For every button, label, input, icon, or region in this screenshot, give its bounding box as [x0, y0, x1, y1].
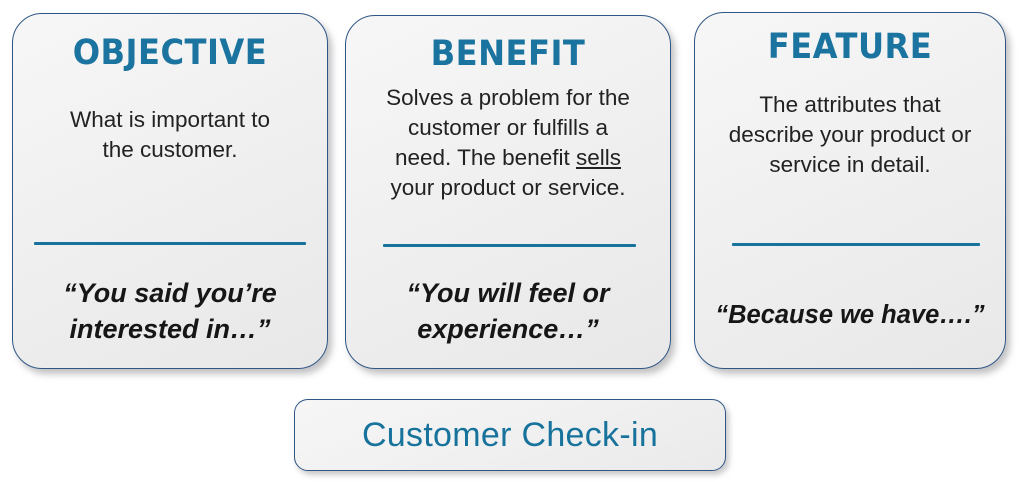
card-benefit-description-line-4: your product or service. [364, 173, 652, 203]
card-objective-quote-line-2: interested in…” [39, 312, 301, 348]
card-objective-description: What is important to the customer. [13, 105, 327, 165]
card-benefit-description-line-3: need. The benefit sells [364, 143, 652, 173]
card-feature-description-line-2: describe your product or [711, 120, 989, 150]
card-feature-description: The attributes that describe your produc… [695, 90, 1005, 180]
feature-benefit-objective-diagram: OBJECTIVE What is important to the custo… [0, 0, 1024, 482]
card-feature-quote: “Because we have….” [695, 299, 1005, 333]
card-benefit-description-line-2: customer or fulfills a [364, 113, 652, 143]
card-benefit-quote-line-1: “You will feel or [374, 276, 642, 312]
card-objective-description-line-1: What is important to [35, 105, 305, 135]
card-feature-description-line-3: service in detail. [711, 150, 989, 180]
customer-check-in-label: Customer Check-in [362, 418, 658, 452]
card-objective-title: OBJECTIVE [26, 36, 315, 71]
card-benefit-title: BENEFIT [359, 37, 657, 72]
card-objective-description-line-2: the customer. [35, 135, 305, 165]
card-benefit-quote-line-2: experience…” [374, 312, 642, 348]
card-feature[interactable]: FEATURE The attributes that describe you… [694, 12, 1006, 369]
card-feature-quote-line-1: “Because we have….” [703, 299, 997, 333]
card-objective-quote-line-1: “You said you’re [39, 276, 301, 312]
card-objective-divider [34, 242, 306, 245]
card-objective-quote: “You said you’re interested in…” [13, 276, 327, 347]
card-benefit-description-emphasis-sells: sells [576, 145, 621, 170]
card-feature-description-line-1: The attributes that [711, 90, 989, 120]
card-feature-divider [732, 243, 980, 246]
card-benefit-quote: “You will feel or experience…” [346, 276, 670, 347]
card-benefit-description-line-1: Solves a problem for the [364, 83, 652, 113]
card-objective[interactable]: OBJECTIVE What is important to the custo… [12, 13, 328, 369]
customer-check-in-box[interactable]: Customer Check-in [294, 399, 726, 471]
card-benefit-description-line-3-text: need. The benefit [395, 145, 576, 170]
card-benefit[interactable]: BENEFIT Solves a problem for the custome… [345, 15, 671, 369]
card-feature-title: FEATURE [707, 30, 992, 65]
card-benefit-description: Solves a problem for the customer or ful… [346, 83, 670, 203]
card-benefit-divider [383, 244, 636, 247]
